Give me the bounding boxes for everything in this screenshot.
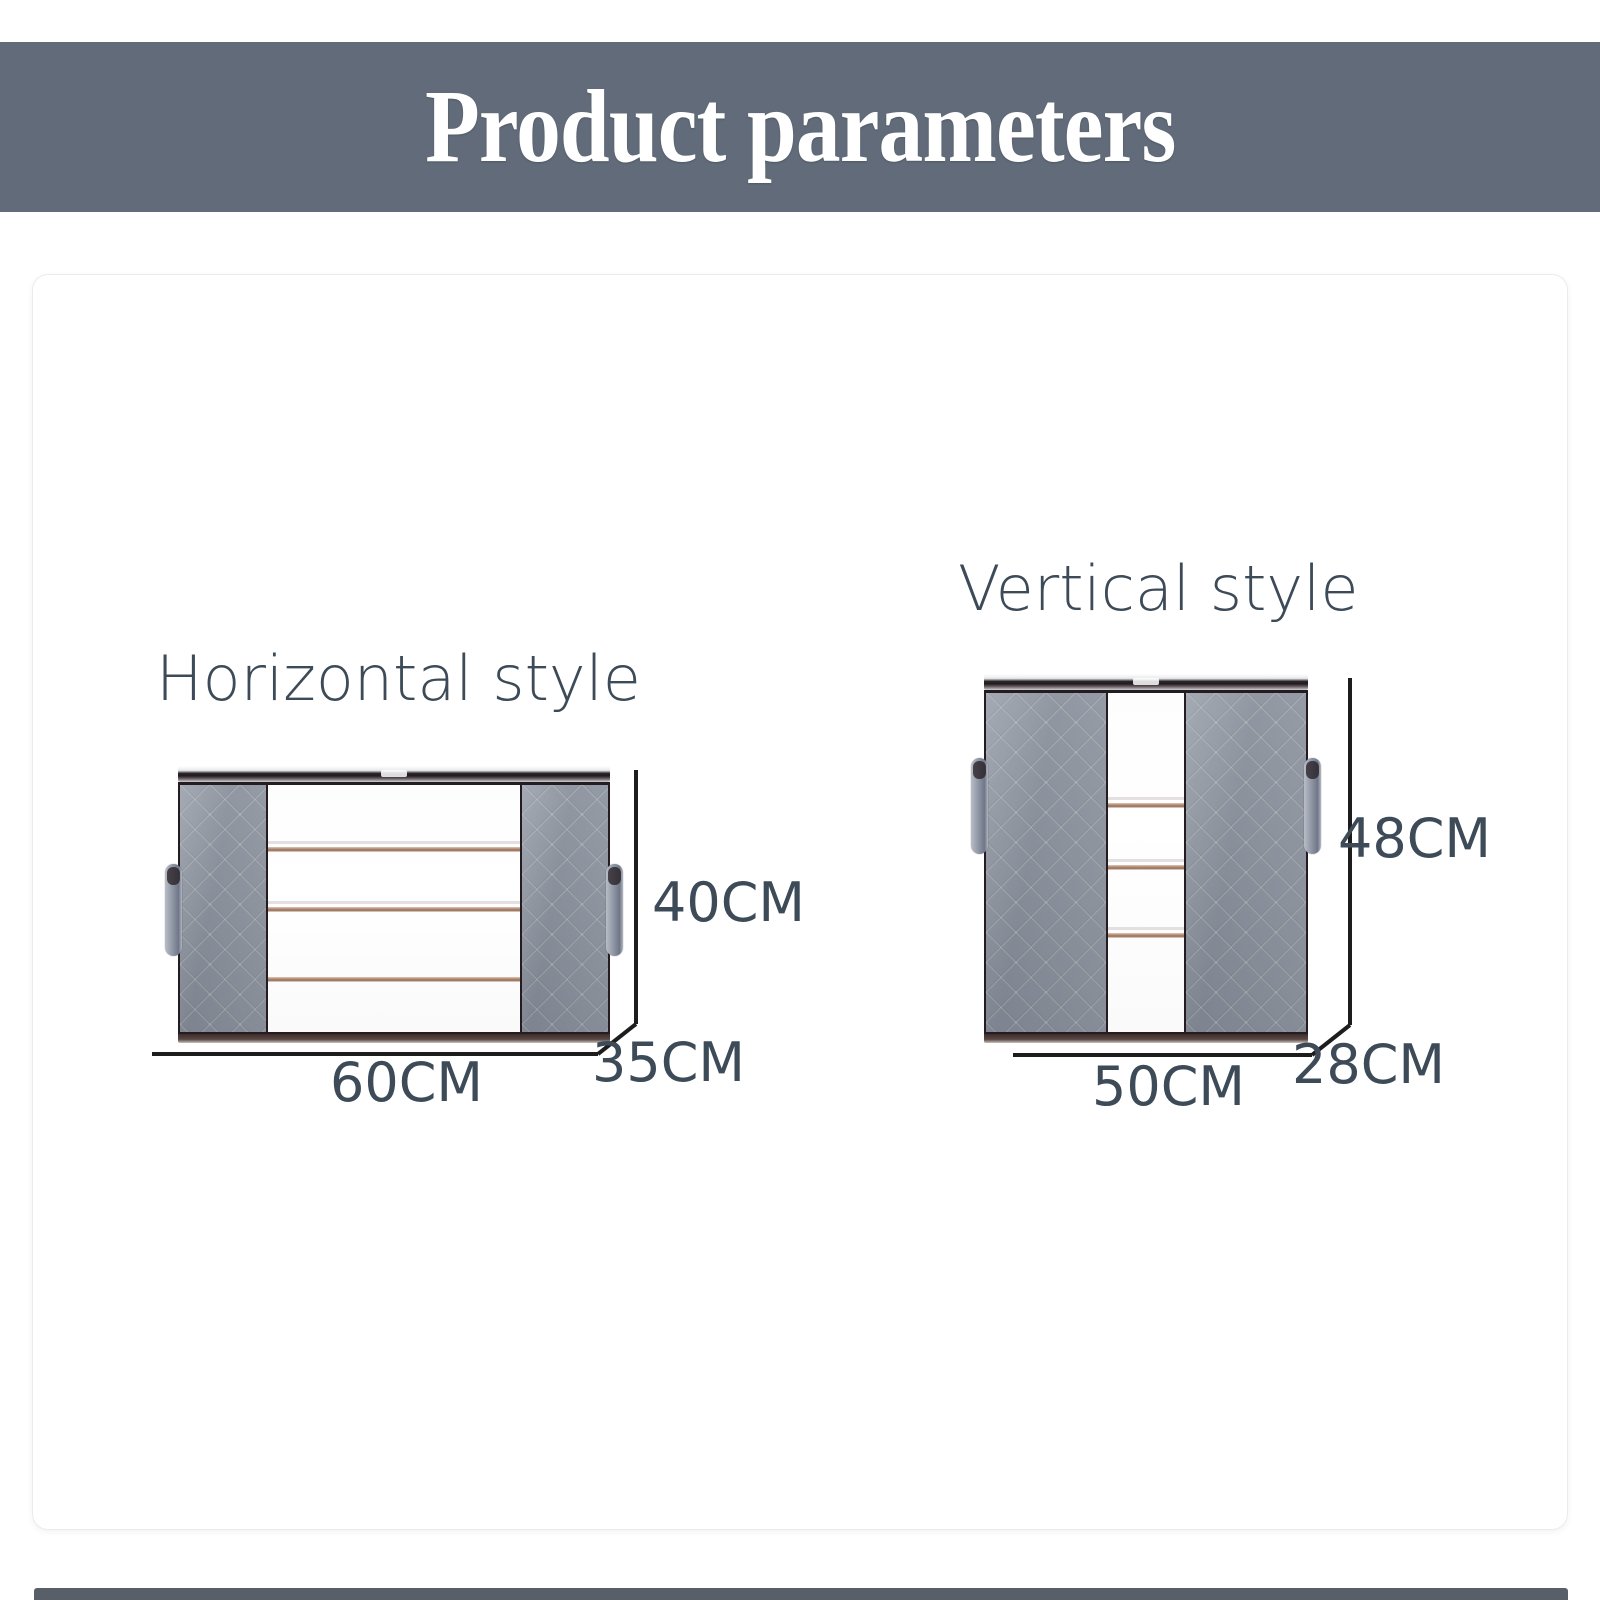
zipper-icon <box>178 766 610 782</box>
dimension-label-height-horizontal: 40CM <box>652 876 805 930</box>
clear-window-vertical <box>1106 693 1186 1032</box>
product-label-horizontal: Horizontal style <box>156 648 641 710</box>
bag-base-vertical <box>984 1034 1308 1043</box>
page-title: Product parameters <box>425 75 1175 179</box>
dimension-label-width-horizontal: 60CM <box>330 1056 483 1110</box>
dimension-label-depth-horizontal: 35CM <box>592 1036 745 1090</box>
window-stripe-1 <box>268 847 520 852</box>
dimension-label-width-vertical: 50CM <box>1092 1060 1245 1114</box>
storage-bag-horizontal <box>178 782 610 1034</box>
bag-base-horizontal <box>178 1034 610 1043</box>
window-stripe-2 <box>268 907 520 912</box>
next-section-header-bar <box>34 1588 1568 1600</box>
window-seam <box>1108 797 1184 800</box>
zipper-icon <box>984 674 1308 690</box>
bag-body-horizontal <box>178 782 610 1034</box>
handle-icon-right <box>1304 758 1321 854</box>
window-stripe-3 <box>1108 933 1184 938</box>
window-seam <box>268 901 520 904</box>
dimension-label-depth-vertical: 28CM <box>1292 1038 1445 1092</box>
handle-icon-left <box>971 758 988 854</box>
window-stripe-2 <box>1108 865 1184 870</box>
bag-body-vertical <box>984 690 1308 1034</box>
storage-bag-vertical <box>984 690 1308 1034</box>
section-header-bar: Product parameters <box>0 42 1600 212</box>
window-stripe-3 <box>268 977 520 982</box>
quilted-panel-left <box>180 785 266 1032</box>
quilted-panel-right <box>1186 693 1306 1032</box>
handle-icon-left <box>165 864 182 956</box>
window-stripe-1 <box>1108 803 1184 808</box>
dimension-label-height-vertical: 48CM <box>1338 812 1491 866</box>
clear-window-horizontal <box>266 785 522 1032</box>
product-label-vertical: Vertical style <box>958 558 1358 620</box>
window-seam <box>1108 859 1184 862</box>
quilted-panel-left <box>986 693 1106 1032</box>
handle-icon-right <box>606 864 623 956</box>
quilted-panel-right <box>522 785 608 1032</box>
window-seam <box>268 841 520 844</box>
window-seam <box>1108 927 1184 930</box>
